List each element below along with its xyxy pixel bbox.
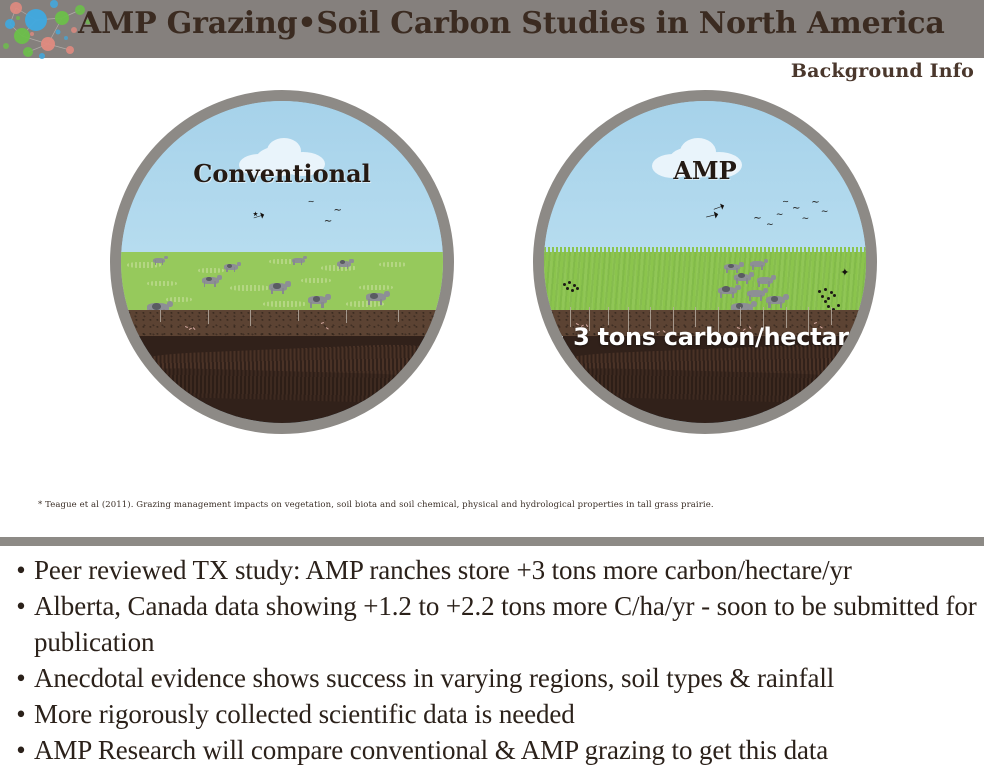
cow-icon (757, 275, 773, 287)
list-item-text: Peer reviewed TX study: AMP ranches stor… (34, 552, 852, 588)
bird-icon: ∼ (766, 220, 774, 229)
root-icon (160, 310, 161, 322)
cow-icon (366, 291, 386, 305)
cow-icon (202, 275, 219, 287)
slide-header-bar: AMP Grazing•Soil Carbon Studies in North… (0, 0, 984, 58)
cow-icon (337, 259, 351, 269)
root-icon (398, 310, 399, 322)
root-icon (321, 323, 335, 331)
bird-icon: ∼ (776, 210, 784, 219)
amp-illustration: AMP ➝ ➝ ∼ ∼ ∼ ∼ ∼ ∼ ∼ ∼ ✦ (533, 90, 877, 434)
bird-icon: ✦ (840, 268, 849, 279)
list-item-text: AMP Research will compare conventional &… (34, 732, 828, 768)
panel-label-amp: AMP (544, 156, 866, 185)
cow-icon (734, 272, 751, 284)
grass-tuft-icon (230, 285, 270, 291)
conventional-illustration: Conventional ➝ ⋆ ∼ ∼ ∼ (110, 90, 454, 434)
list-item-text: More rigorously collected scientific dat… (34, 696, 575, 732)
root-icon (208, 310, 209, 324)
list-item: • AMP Research will compare conventional… (0, 732, 984, 768)
bird-icon: ∼ (792, 204, 800, 214)
list-item-text: Anecdotal evidence shows success in vary… (34, 660, 834, 696)
bullet-marker: • (8, 660, 34, 696)
cow-icon (153, 256, 165, 265)
bullet-marker: • (8, 732, 34, 768)
bullet-list: • Peer reviewed TX study: AMP ranches st… (0, 552, 984, 768)
list-item: • Peer reviewed TX study: AMP ranches st… (0, 552, 984, 588)
carbon-gain-badge: + 3 tons carbon/hectare (544, 323, 866, 351)
cow-icon (292, 256, 305, 265)
grass-tuft-icon (359, 285, 393, 290)
list-item-text: Alberta, Canada data showing +1.2 to +2.… (34, 588, 980, 660)
root-icon (185, 326, 199, 334)
bird-icon: ∼ (782, 198, 789, 206)
grass-tuft-icon (379, 262, 407, 267)
bird-icon: ∼ (753, 214, 761, 224)
cow-icon (750, 259, 765, 270)
section-label: Background Info (791, 60, 974, 82)
bird-icon: ∼ (811, 198, 819, 208)
page-title: AMP Grazing•Soil Carbon Studies in North… (78, 6, 945, 41)
cow-icon (718, 285, 737, 298)
topsoil-layer (121, 310, 443, 336)
grass-tuft-icon (301, 278, 331, 283)
dung-pat-icon (818, 288, 838, 302)
bird-icon: ∼ (802, 214, 810, 223)
root-icon (250, 310, 251, 326)
list-item: • Anecdotal evidence shows success in va… (0, 660, 984, 696)
source-footnote: * Teague et al (2011). Grazing managemen… (38, 500, 714, 510)
bullet-marker: • (8, 588, 34, 624)
bird-icon: ∼ (821, 207, 829, 216)
root-icon (346, 310, 347, 323)
root-icon (298, 310, 299, 321)
grass-tuft-icon (263, 301, 307, 307)
bird-icon: ∼ (308, 198, 315, 206)
cow-icon (308, 294, 327, 308)
grass-tuft-icon (147, 281, 177, 286)
bullet-marker: • (8, 552, 34, 588)
section-divider (0, 537, 984, 546)
cow-icon (224, 262, 238, 272)
cow-icon (766, 294, 785, 308)
bird-icon: ⋆ (251, 207, 259, 220)
cow-icon (269, 281, 287, 294)
bullet-marker: • (8, 696, 34, 732)
cow-icon (747, 288, 765, 301)
bird-icon: ∼ (334, 206, 342, 216)
dung-pat-icon (563, 281, 581, 293)
list-item: • Alberta, Canada data showing +1.2 to +… (0, 588, 984, 660)
bird-icon: ∼ (324, 217, 332, 227)
panel-label-conventional: Conventional (121, 159, 443, 188)
list-item: • More rigorously collected scientific d… (0, 696, 984, 732)
